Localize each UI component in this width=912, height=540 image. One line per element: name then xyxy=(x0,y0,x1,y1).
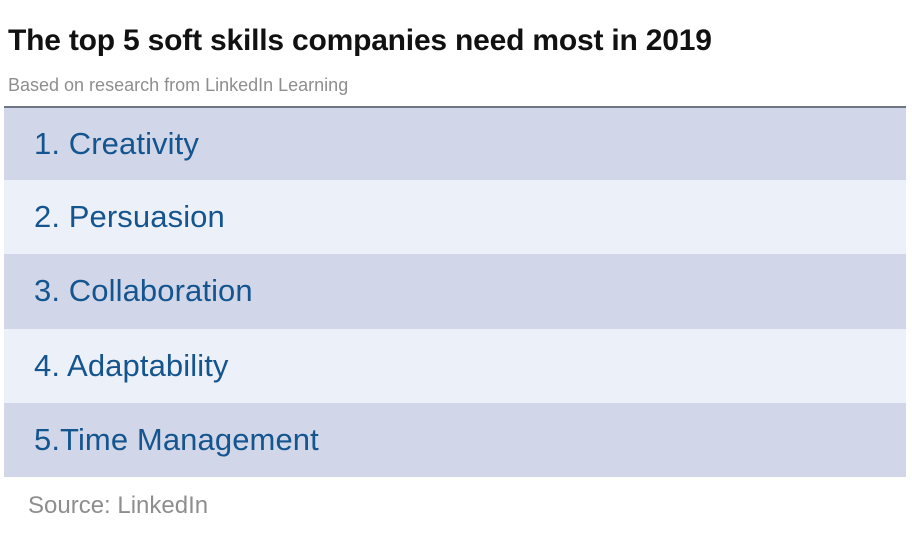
list-item-label: 5.Time Management xyxy=(34,422,319,458)
list-item: 5.Time Management xyxy=(4,403,906,477)
page-title: The top 5 soft skills companies need mos… xyxy=(8,24,712,58)
list-item-label: 1. Creativity xyxy=(34,126,199,162)
list-item-label: 2. Persuasion xyxy=(34,199,225,235)
list-item: 4. Adaptability xyxy=(4,329,906,403)
infographic-root: The top 5 soft skills companies need mos… xyxy=(0,0,912,540)
ranked-skill-list: 1. Creativity 2. Persuasion 3. Collabora… xyxy=(0,106,912,481)
list-item-label: 4. Adaptability xyxy=(34,348,229,384)
list-item-label: 3. Collaboration xyxy=(34,273,253,309)
list-item: 2. Persuasion xyxy=(4,180,906,254)
list-item: 1. Creativity xyxy=(4,106,906,180)
list-item: 3. Collaboration xyxy=(4,254,906,328)
source-attribution: Source: LinkedIn xyxy=(28,491,208,521)
page-subtitle: Based on research from LinkedIn Learning xyxy=(8,74,348,96)
